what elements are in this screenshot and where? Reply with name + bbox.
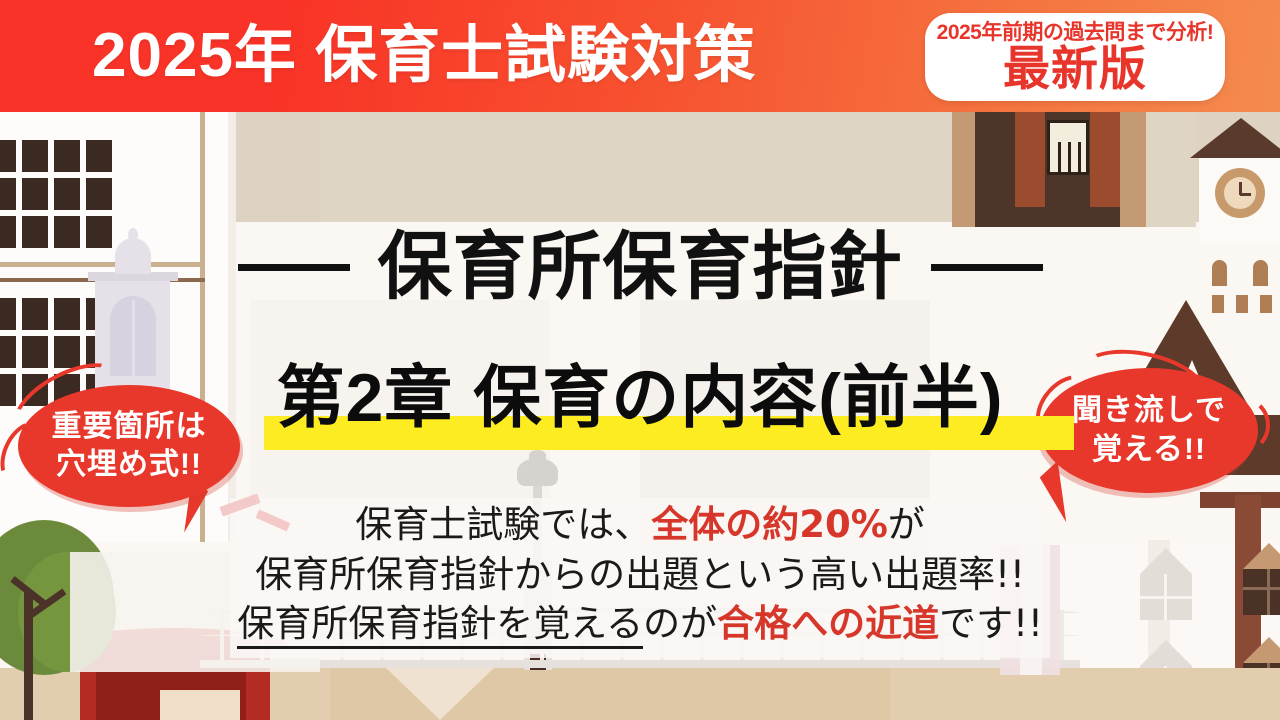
page-title: 保育所保育指針 (378, 230, 903, 304)
body-line-3-underlined: 保育所保育指針を覚える (237, 602, 643, 649)
body-line-1-part-a: 保育士試験では、 (355, 503, 651, 546)
body-line-3-part-c: です!! (939, 602, 1043, 645)
body-line-2: 保育所保育指針からの出題という高い出題率!! (0, 550, 1280, 600)
body-line-1-part-b: が (888, 503, 925, 546)
main-title-row: 保育所保育指針 (0, 230, 1280, 304)
header-banner: 2025年 保育士試験対策 2025年前期の過去問まで分析! 最新版 (0, 0, 1280, 112)
badge-subtext: 2025年前期の過去問まで分析! (937, 22, 1214, 43)
body-line-1: 保育士試験では、全体の約20%が (0, 500, 1280, 550)
latest-version-badge: 2025年前期の過去問まで分析! 最新版 (925, 13, 1225, 101)
title-dash-right-icon (931, 264, 1043, 271)
subtitle-row: 第2章 保育の内容(前半) (0, 364, 1280, 432)
header-title: 2025年 保育士試験対策 (92, 25, 756, 87)
body-line-3-highlight: 合格への近道 (717, 602, 939, 645)
body-text-block: 保育士試験では、全体の約20%が 保育所保育指針からの出題という高い出題率!! … (0, 500, 1280, 649)
title-dash-left-icon (238, 264, 350, 271)
subtitle: 第2章 保育の内容(前半) (276, 364, 1003, 432)
body-line-3-part-b: のが (643, 602, 717, 645)
body-line-1-highlight: 全体の約20% (651, 503, 888, 546)
badge-main-text: 最新版 (1003, 45, 1147, 93)
slide-content: 保育所保育指針 第2章 保育の内容(前半) 保育士試験では、全体の約20%が 保… (0, 112, 1280, 720)
body-line-3: 保育所保育指針を覚えるのが合格への近道です!! (0, 599, 1280, 649)
slide-canvas: 2025年 保育士試験対策 2025年前期の過去問まで分析! 最新版 保育所保育… (0, 0, 1280, 720)
